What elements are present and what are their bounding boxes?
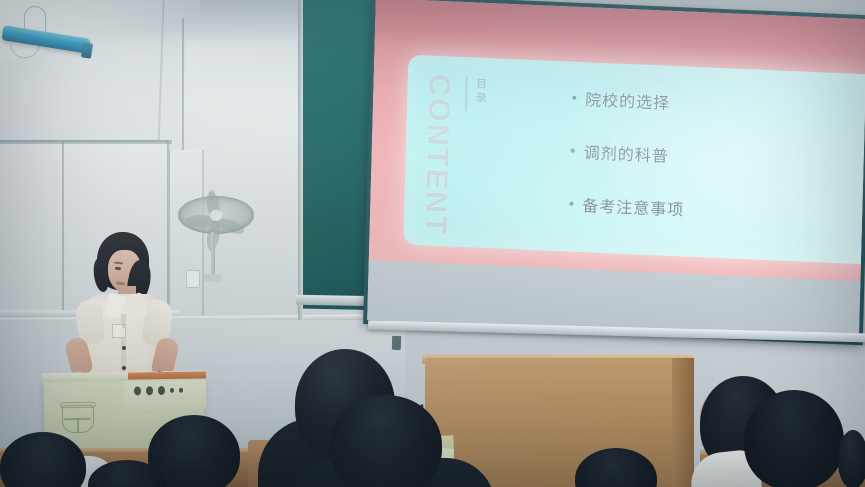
fan-icon: [178, 196, 254, 234]
fan-hub: [210, 210, 222, 221]
classroom-photo-scene: CONTENT 目录 院校的选择 调剂的科普: [0, 0, 865, 487]
slide-content-card: CONTENT 目录 院校的选择 调剂的科普: [403, 55, 865, 265]
bullet-dot-icon: [571, 149, 575, 153]
podium-vent-hole: [158, 385, 165, 394]
bullet-dot-icon: [572, 96, 576, 100]
presentation-slide: CONTENT 目录 院校的选择 调剂的科普: [369, 0, 865, 283]
podium-vent-hole: [170, 387, 174, 392]
bullet-dot-icon: [569, 202, 573, 206]
presenter-eye: [115, 267, 121, 270]
heading-divider: [465, 77, 468, 111]
wall-panel-rail: [0, 140, 172, 144]
list-item: 调剂的科普: [571, 139, 687, 168]
audience-head: [744, 390, 844, 487]
podium-vent-hole: [146, 386, 153, 395]
podium-wood-trim: [128, 371, 206, 379]
presenter-pocket: [112, 324, 126, 338]
screen-roller-hook: [392, 336, 401, 350]
bullet-label: 调剂的科普: [584, 139, 670, 167]
projection-screen: CONTENT 目录 院校的选择 调剂的科普: [363, 0, 865, 345]
audience-head: [330, 395, 442, 487]
slide-heading-cn: 目录: [472, 77, 489, 112]
front-desk-side: [672, 358, 694, 487]
list-item: 院校的选择: [572, 86, 688, 115]
fan-pole: [211, 232, 215, 278]
podium-vent-hole: [179, 387, 183, 392]
audience-head: [838, 430, 865, 487]
fan-base: [204, 274, 222, 282]
list-item: 备考注意事项: [569, 192, 685, 221]
podium-vent-holes: [134, 384, 194, 395]
podium-vent-hole: [134, 386, 141, 395]
slide-heading-cn-group: 目录: [465, 77, 489, 112]
presenter-button: [122, 346, 126, 350]
wall-socket: [186, 270, 200, 288]
podium-emblem-stroke: [77, 418, 79, 433]
slide-top-band: [375, 0, 865, 61]
screen-surface: CONTENT 目录 院校的选择 调剂的科普: [367, 0, 865, 341]
chalkboard-frame: [298, 0, 303, 320]
bullet-label: 院校的选择: [585, 86, 671, 114]
bullet-label: 备考注意事项: [582, 192, 685, 220]
slide-bullet-list: 院校的选择 调剂的科普 备考注意事项: [568, 86, 687, 250]
wall-panel-divider: [62, 142, 64, 313]
presenter-button: [122, 366, 126, 370]
slide-heading-latin: CONTENT: [417, 73, 455, 237]
